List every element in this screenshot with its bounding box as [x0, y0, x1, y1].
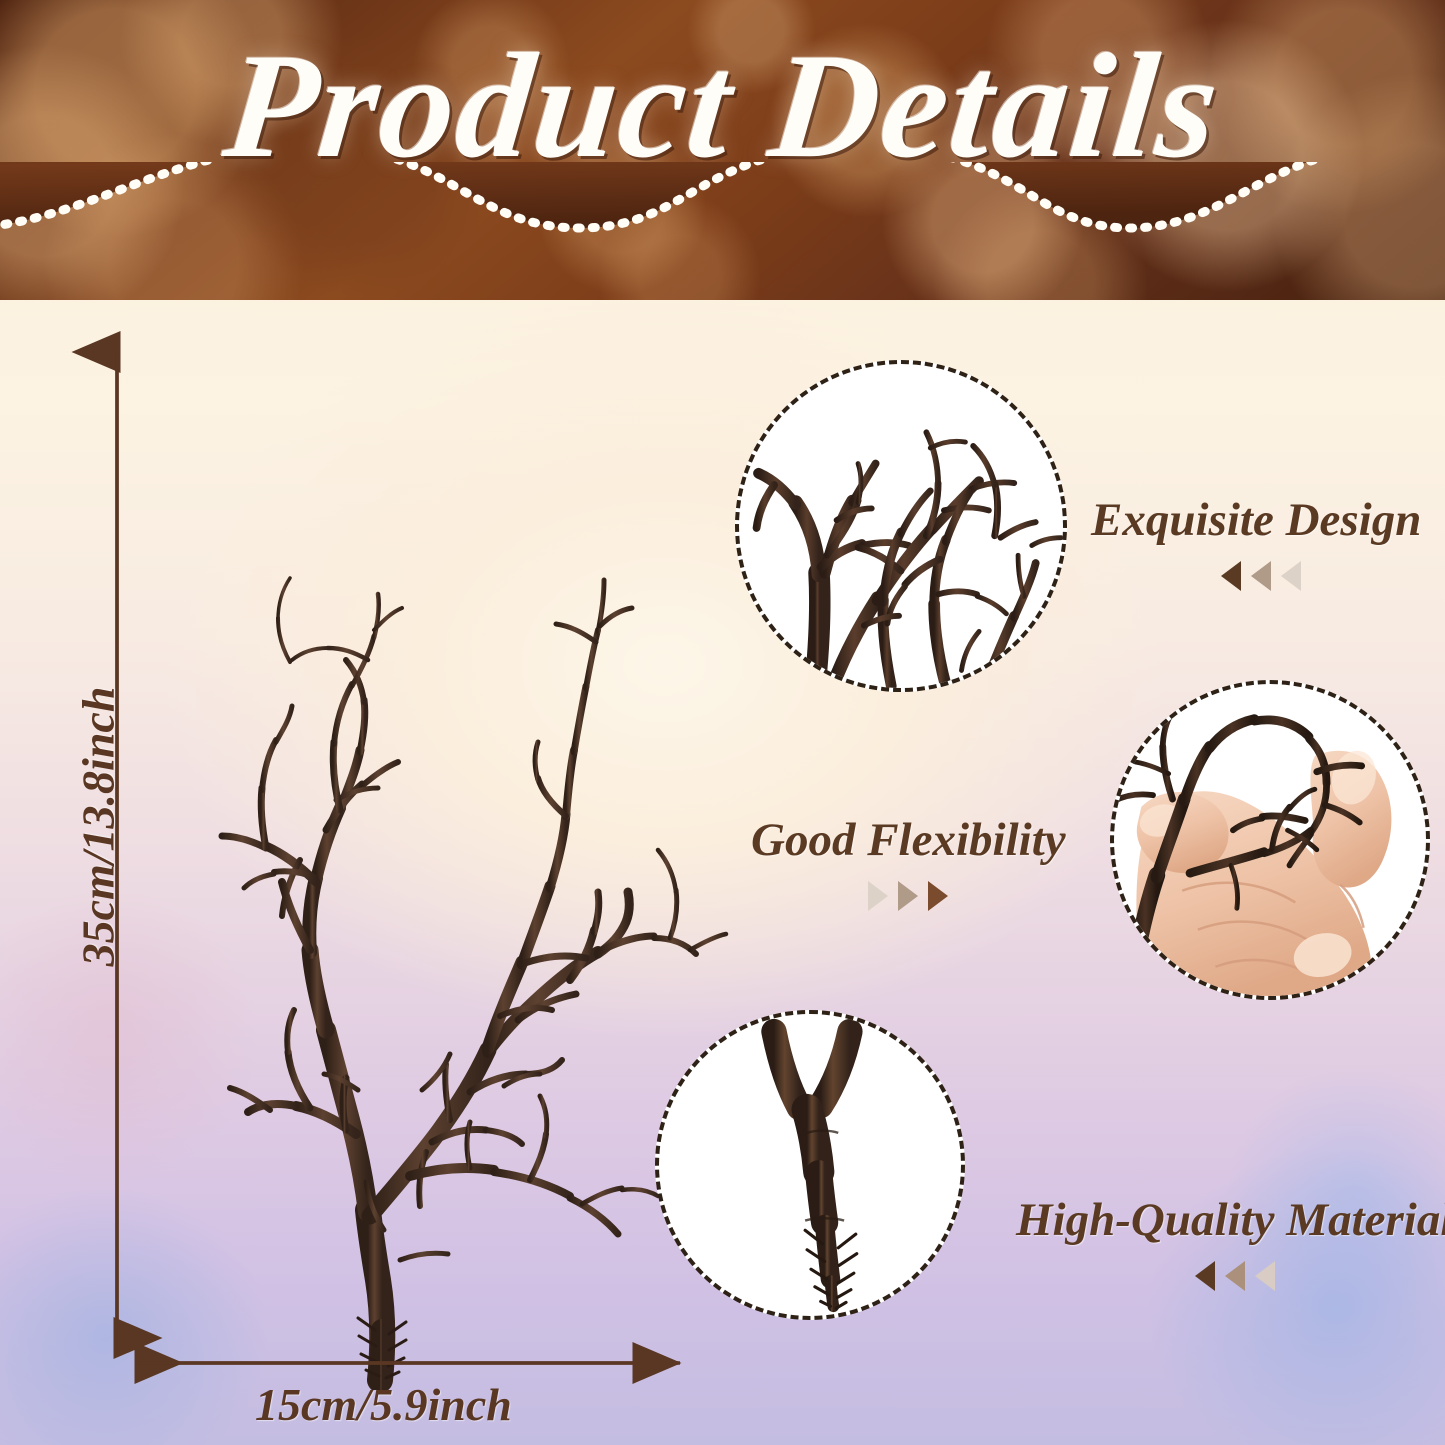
feature-label-3-text: High-Quality Material [1016, 1194, 1445, 1246]
feature-high-quality-material: High-Quality Material [1010, 1195, 1445, 1291]
product-image-branch [170, 330, 730, 1390]
feature-label-3: High-Quality Material [1010, 1195, 1445, 1251]
product-detail-page: Product Details [0, 0, 1445, 1445]
feature-exquisite-design: Exquisite Design [1085, 495, 1427, 591]
branch-closeup-circle [735, 360, 1067, 692]
triangle-right-icon [868, 881, 888, 911]
background-glow-blue-right [1145, 1145, 1445, 1445]
triangle-left-icon [1225, 1261, 1245, 1291]
width-dimension-label: 15cm/5.9inch [255, 1378, 512, 1431]
feature-arrows-1 [1085, 561, 1427, 591]
triangle-left-icon [1195, 1261, 1215, 1291]
triangle-left-icon [1251, 561, 1271, 591]
feature-arrows-3 [1010, 1261, 1445, 1291]
triangle-left-icon [1281, 561, 1301, 591]
hand-bending-branch-circle [1110, 680, 1430, 1000]
triangle-right-icon [898, 881, 918, 911]
feature-label-1-text: Exquisite Design [1091, 494, 1421, 546]
feature-label-2: Good Flexibility [745, 815, 1072, 871]
feature-arrows-2 [745, 881, 1072, 911]
feature-label-2-text: Good Flexibility [751, 814, 1066, 866]
header-banner: Product Details [0, 0, 1445, 300]
triangle-right-icon [928, 881, 948, 911]
feature-label-1: Exquisite Design [1085, 495, 1427, 551]
stem-base-circle [655, 1010, 965, 1320]
height-dimension-label: 35cm/13.8inch [72, 677, 125, 977]
triangle-left-icon [1221, 561, 1241, 591]
triangle-left-icon [1255, 1261, 1275, 1291]
header-wave-divider [0, 162, 1445, 300]
feature-good-flexibility: Good Flexibility [745, 815, 1072, 911]
